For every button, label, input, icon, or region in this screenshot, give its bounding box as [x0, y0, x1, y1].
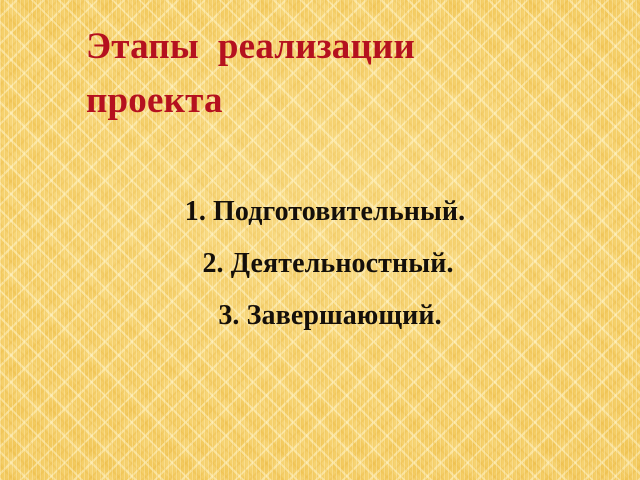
slide-title: Этапы реализации проекта	[86, 20, 556, 128]
stage-item-2: 2. Деятельностный.	[68, 238, 588, 290]
slide: Этапы реализации проекта 1. Подготовител…	[0, 0, 640, 480]
stage-item-3: 3. Завершающий.	[72, 290, 588, 342]
stage-item-1: 1. Подготовительный.	[62, 186, 588, 238]
title-line-1: Этапы реализации	[86, 20, 556, 74]
stages-list: 1. Подготовительный. 2. Деятельностный. …	[60, 186, 588, 342]
title-line-2: проекта	[86, 74, 556, 128]
slide-content: Этапы реализации проекта 1. Подготовител…	[0, 0, 640, 480]
